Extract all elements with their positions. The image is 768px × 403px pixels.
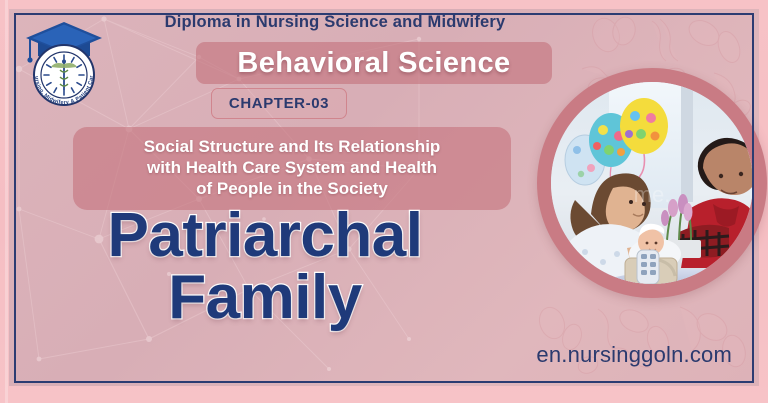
main-title-line-2: Family [30,267,500,329]
poster-canvas: Nursing, Midwifery & Patient Care Diplom… [0,0,768,403]
subject-label: Behavioral Science [237,47,510,80]
course-title: Diploma in Nursing Science and Midwifery [120,13,550,32]
subject-pill: Behavioral Science [196,42,552,84]
hospital-photo: me. [551,82,753,284]
main-title: Patriarchal Family [30,205,500,329]
topic-box: Social Structure and Its Relationship wi… [73,127,511,210]
left-edge-stripe [5,0,8,403]
svg-text:me.: me. [634,182,671,207]
topic-line-3: of People in the Society [87,178,497,199]
chapter-badge: CHAPTER-03 [211,88,347,119]
topic-line-1: Social Structure and Its Relationship [87,136,497,157]
main-title-line-1: Patriarchal [30,205,500,267]
institution-logo: Nursing, Midwifery & Patient Care [22,16,106,112]
site-url[interactable]: en.nursinggoln.com [536,342,732,368]
chapter-label: CHAPTER-03 [229,95,329,112]
photo-circle-frame: me. [537,68,767,298]
topic-line-2: with Health Care System and Health [87,157,497,178]
